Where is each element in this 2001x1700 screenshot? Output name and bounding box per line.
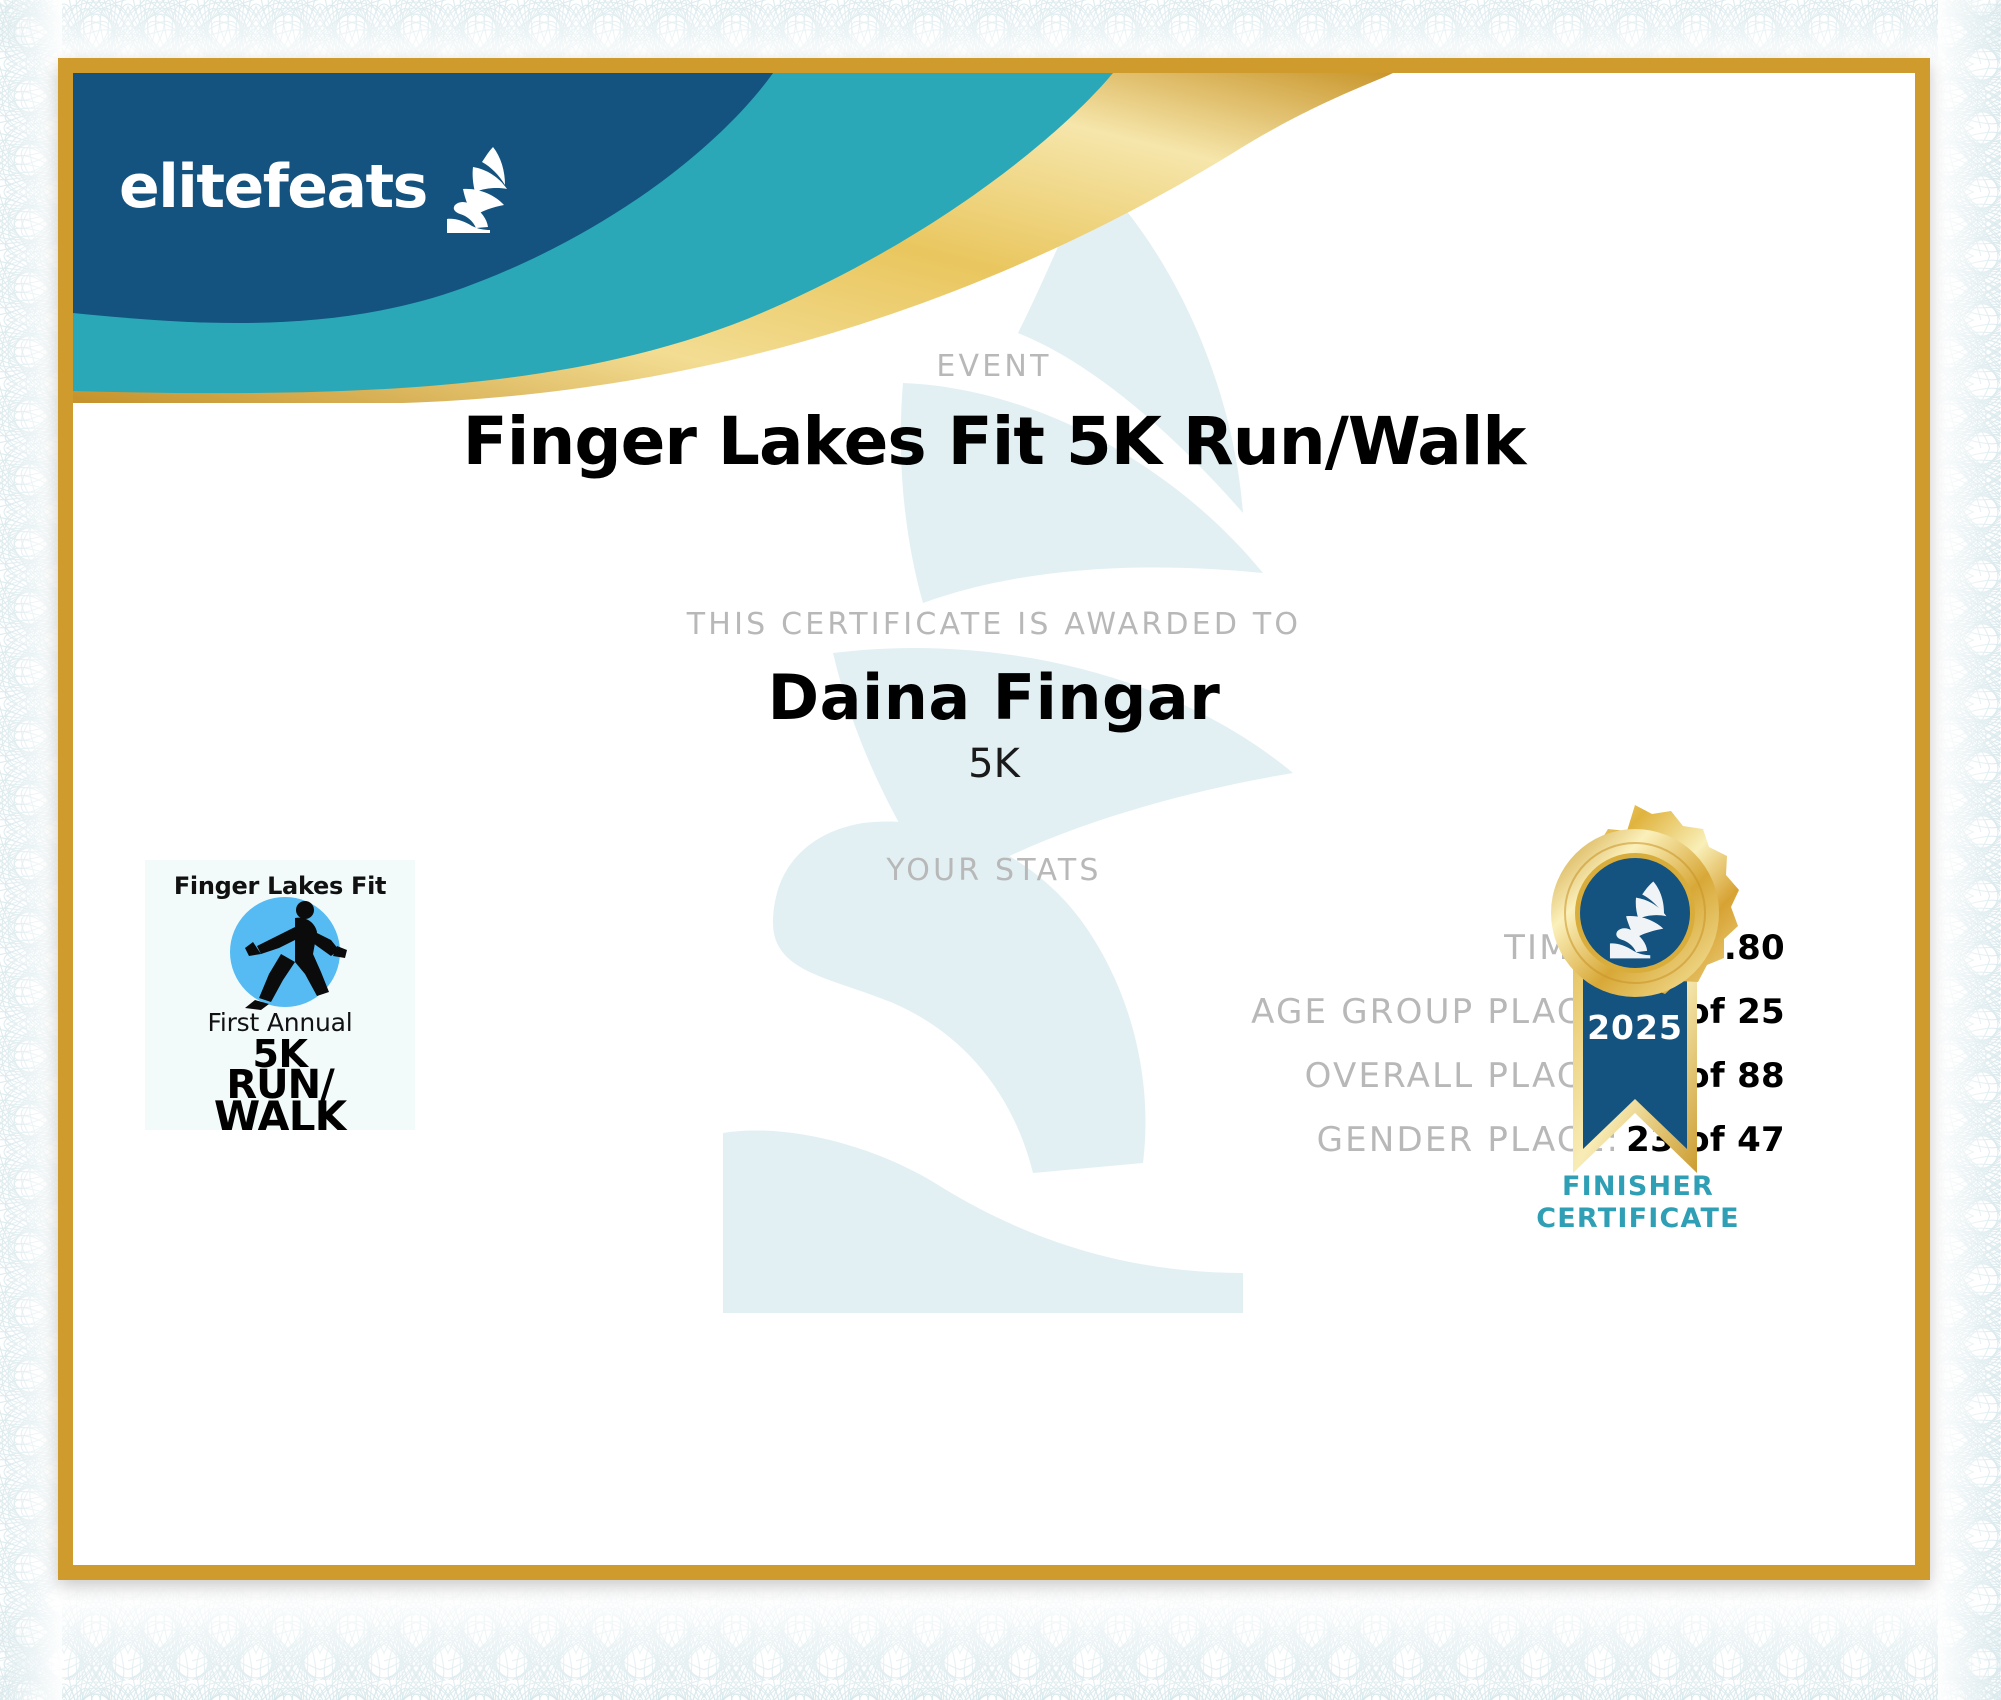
running-man-icon bbox=[145, 892, 415, 1012]
medal-caption-line2: CERTIFICATE bbox=[1463, 1203, 1813, 1235]
certificate-content: EVENT Finger Lakes Fit 5K Run/Walk THIS … bbox=[73, 73, 1915, 1565]
recipient-distance: 5K bbox=[73, 741, 1915, 787]
certificate-card: elitefeats EVENT Finger Lakes Fit 5K Run… bbox=[58, 58, 1930, 1580]
recipient-name: Daina Fingar bbox=[73, 661, 1915, 734]
race-logo-walk-line: WALK bbox=[145, 1092, 415, 1130]
awarded-to-label: THIS CERTIFICATE IS AWARDED TO bbox=[73, 607, 1915, 642]
finisher-medal-badge: 2025 bbox=[1505, 801, 1765, 1231]
medal-year-text: 2025 bbox=[1587, 1008, 1683, 1047]
race-event-logo: Finger Lakes Fit First Annual bbox=[145, 860, 415, 1130]
event-title: Finger Lakes Fit 5K Run/Walk bbox=[73, 403, 1915, 480]
medal-caption: FINISHER CERTIFICATE bbox=[1463, 1171, 1813, 1235]
medal-caption-line1: FINISHER bbox=[1463, 1171, 1813, 1203]
certificate-page: elitefeats EVENT Finger Lakes Fit 5K Run… bbox=[0, 0, 2001, 1700]
event-label: EVENT bbox=[73, 349, 1915, 384]
